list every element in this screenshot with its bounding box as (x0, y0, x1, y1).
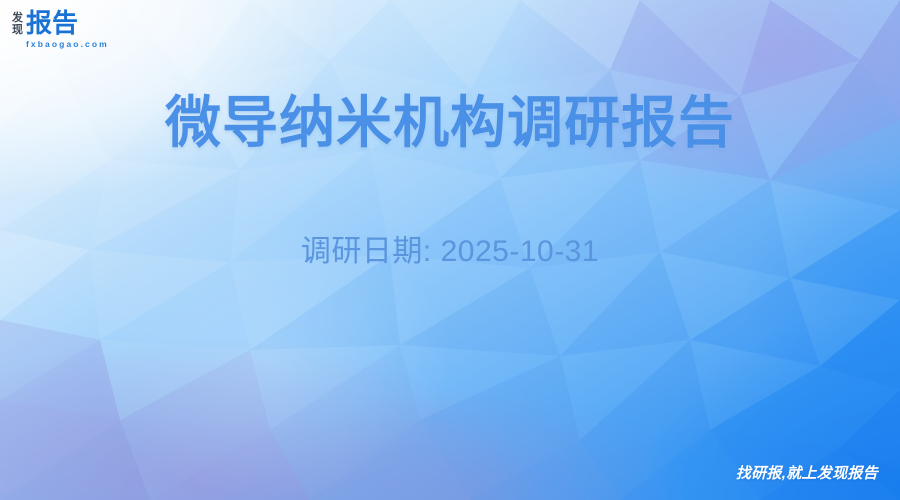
page-title: 微导纳米机构调研报告 (0, 88, 900, 158)
logo-domain: fxbaogao.com (26, 39, 109, 49)
site-logo[interactable]: 发 现 报告 fxbaogao.com (12, 10, 109, 49)
logo-mark: 发 现 (12, 10, 23, 36)
logo-text-block: 报告 fxbaogao.com (26, 10, 109, 49)
logo-mark-char-2: 现 (12, 24, 23, 36)
brand-slogan: 找研报,就上发现报告 (736, 464, 878, 484)
report-cover: 发 现 报告 fxbaogao.com 微导纳米机构调研报告 调研日期: 202… (0, 0, 900, 500)
survey-date-subtitle: 调研日期: 2025-10-31 (0, 232, 900, 272)
logo-wordmark: 报告 (26, 10, 109, 37)
logo-mark-char-1: 发 (12, 12, 23, 24)
